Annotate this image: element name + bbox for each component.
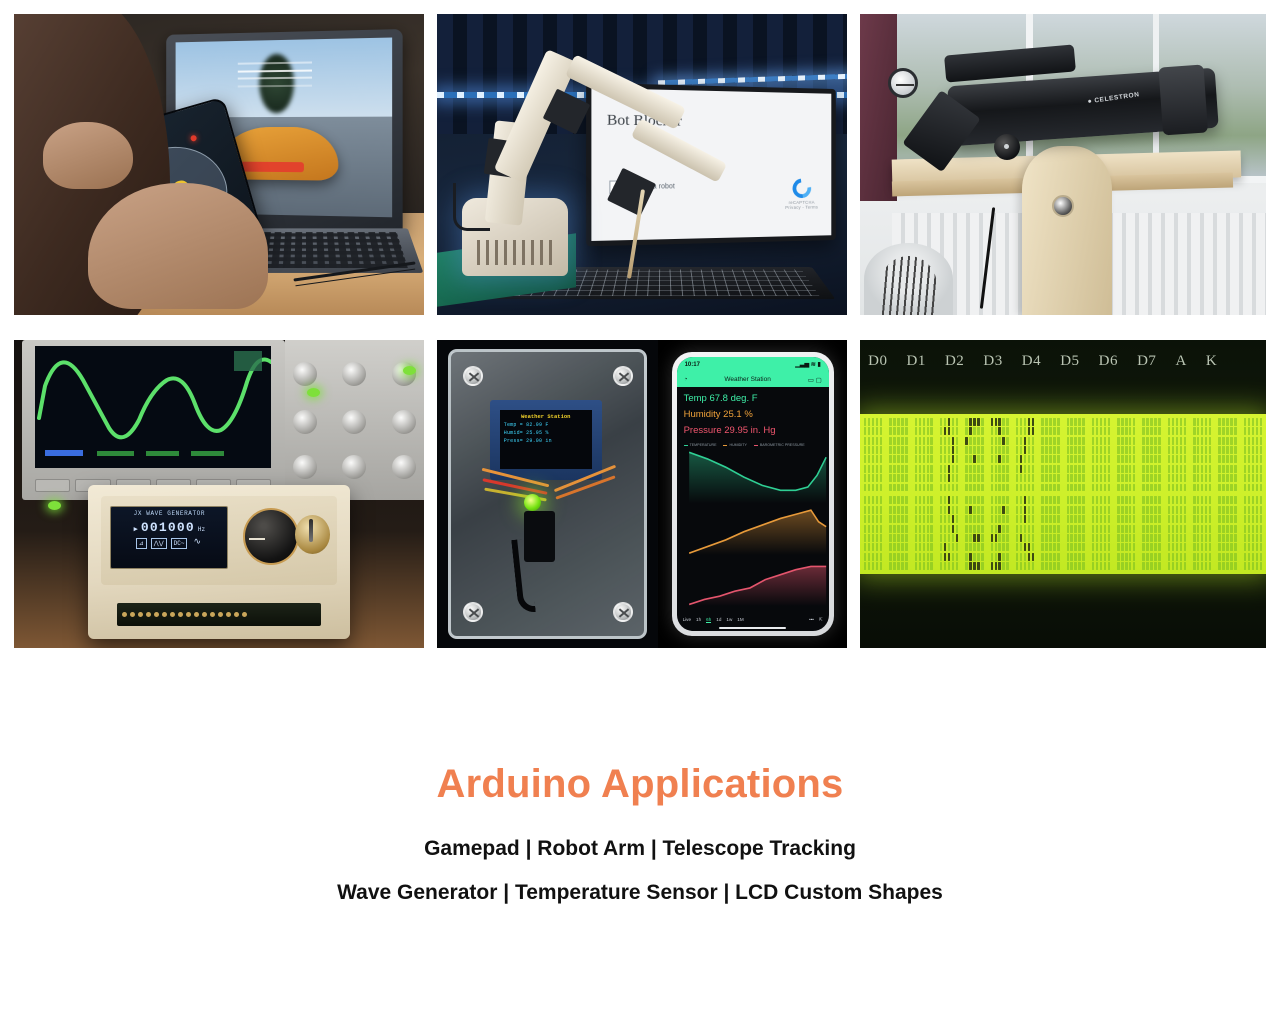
lcd-pixel bbox=[1053, 427, 1055, 435]
lcd-pixel bbox=[872, 543, 874, 551]
share-icon[interactable]: ⇱ bbox=[819, 617, 823, 623]
lcd-pixel bbox=[1016, 506, 1018, 514]
lcd-pixel bbox=[1002, 418, 1004, 426]
lcd-pixel bbox=[1006, 496, 1008, 504]
lcd-pixel bbox=[995, 506, 997, 514]
lcd-pixel bbox=[1100, 437, 1102, 445]
lcd-pixel bbox=[1193, 446, 1195, 454]
lcd-pixel bbox=[1218, 437, 1220, 445]
lcd-pixel bbox=[1049, 446, 1051, 454]
lcd-pixel bbox=[1205, 553, 1207, 561]
lcd-pixel bbox=[1082, 465, 1084, 473]
scope-knob[interactable] bbox=[342, 410, 366, 434]
lcd-pixel bbox=[1070, 525, 1072, 533]
lcd-pixel bbox=[965, 484, 967, 492]
lcd-pixel bbox=[880, 437, 882, 445]
lcd-pixel bbox=[1067, 437, 1069, 445]
lcd-pixel bbox=[1032, 506, 1034, 514]
lcd-pixel bbox=[1057, 506, 1059, 514]
lcd-pixel bbox=[905, 437, 907, 445]
lcd-pixel bbox=[1028, 496, 1030, 504]
lcd-pixel bbox=[944, 562, 946, 570]
lcd-pixel bbox=[981, 506, 983, 514]
lcd-pixel bbox=[1248, 553, 1250, 561]
lcd-character-cell bbox=[1117, 496, 1135, 570]
scope-knob-row-mid[interactable] bbox=[293, 410, 416, 434]
lcd-pixel bbox=[1096, 525, 1098, 533]
oscilloscope-control-panel[interactable] bbox=[285, 340, 424, 500]
lcd-pixel bbox=[973, 496, 975, 504]
lcd-pixel bbox=[995, 543, 997, 551]
lcd-pixel bbox=[956, 506, 958, 514]
lcd-pixel bbox=[901, 427, 903, 435]
lcd-pixel bbox=[1168, 496, 1170, 504]
lcd-pixel bbox=[1074, 543, 1076, 551]
lcd-pixel bbox=[1205, 496, 1207, 504]
wave-generator-device: JX WAVE GENERATOR ▶ 001000 Hz ⊿ ⋀⋁ DC~ ∿ bbox=[88, 485, 350, 639]
lcd-pixel bbox=[919, 553, 921, 561]
lcd-pixel bbox=[1104, 562, 1106, 570]
header-pin bbox=[162, 612, 167, 617]
lcd-pixel bbox=[1045, 496, 1047, 504]
photo-wave-generator: JX WAVE GENERATOR ▶ 001000 Hz ⊿ ⋀⋁ DC~ ∿ bbox=[14, 340, 424, 648]
legend-item-temperature: TEMPERATURE bbox=[684, 443, 717, 447]
lcd-pixel bbox=[872, 437, 874, 445]
lcd-pixel bbox=[1260, 534, 1262, 542]
lcd-pixel bbox=[1197, 525, 1199, 533]
lcd-pixel bbox=[1248, 525, 1250, 533]
lcd-pixel bbox=[897, 465, 899, 473]
lcd-pixel bbox=[977, 515, 979, 523]
lcd-pixel bbox=[1248, 506, 1250, 514]
lcd-pixel bbox=[889, 525, 891, 533]
lcd-pixel bbox=[940, 506, 942, 514]
lcd-pixel bbox=[1218, 427, 1220, 435]
lcd-pixel bbox=[1041, 562, 1043, 570]
lcd-pixel bbox=[1201, 446, 1203, 454]
pin-label-d3: D3 bbox=[983, 353, 1002, 370]
lcd-pixel bbox=[1117, 553, 1119, 561]
clock-icon[interactable]: ◔ bbox=[684, 376, 688, 383]
lcd-pixel bbox=[1096, 418, 1098, 426]
lcd-pixel bbox=[1125, 418, 1127, 426]
lcd-pixel bbox=[1150, 446, 1152, 454]
lcd-pixel bbox=[897, 562, 899, 570]
lcd-pixel bbox=[1234, 418, 1236, 426]
lcd-pixel bbox=[1193, 455, 1195, 463]
pin-label-d4: D4 bbox=[1022, 353, 1041, 370]
wire-orange bbox=[482, 467, 549, 487]
lcd-pixel bbox=[1024, 437, 1026, 445]
lcd-pixel bbox=[952, 543, 954, 551]
lcd-pixel bbox=[1193, 515, 1195, 523]
lcd-pixel bbox=[1104, 455, 1106, 463]
oled-pressure-line: Press= 29.00 in bbox=[504, 438, 588, 444]
lcd-pixel bbox=[1146, 418, 1148, 426]
lcd-pixel bbox=[1020, 418, 1022, 426]
lcd-pixel bbox=[1125, 427, 1127, 435]
lcd-pixel bbox=[1024, 525, 1026, 533]
lcd-pixel bbox=[952, 506, 954, 514]
lcd-pixel bbox=[1248, 562, 1250, 570]
lcd-pixel bbox=[1184, 525, 1186, 533]
lcd-pixel bbox=[944, 553, 946, 561]
lcd-pixel bbox=[1256, 427, 1258, 435]
lcd-pixel bbox=[893, 506, 895, 514]
lcd-pixel bbox=[998, 427, 1000, 435]
lcd-pixel bbox=[956, 455, 958, 463]
lcd-pixel bbox=[977, 484, 979, 492]
scope-knob[interactable] bbox=[342, 455, 366, 479]
lcd-pixel bbox=[1230, 534, 1232, 542]
lcd-pixel bbox=[995, 437, 997, 445]
lcd-pixel bbox=[956, 446, 958, 454]
lcd-pixel bbox=[944, 525, 946, 533]
scope-knob[interactable] bbox=[392, 410, 416, 434]
lcd-pixel bbox=[872, 427, 874, 435]
lcd-pixel bbox=[948, 455, 950, 463]
header-pin bbox=[226, 612, 231, 617]
lcd-pixel bbox=[1172, 553, 1174, 561]
lcd-pixel bbox=[1197, 446, 1199, 454]
lcd-pixel bbox=[1158, 446, 1160, 454]
lcd-pixel bbox=[1002, 534, 1004, 542]
lcd-pixel bbox=[1070, 418, 1072, 426]
lcd-character-cell bbox=[1168, 496, 1186, 570]
lcd-character-cell bbox=[1168, 418, 1186, 492]
telescope-brand-label: CELESTRON bbox=[1088, 92, 1141, 106]
lcd-pixel bbox=[1230, 562, 1232, 570]
lcd-pixel bbox=[1184, 515, 1186, 523]
enclosure-screw bbox=[463, 366, 483, 386]
lcd-pixel bbox=[1150, 418, 1152, 426]
lcd-pixel bbox=[1180, 496, 1182, 504]
lcd-character-cell bbox=[991, 418, 1009, 492]
lcd-pixel bbox=[915, 418, 917, 426]
lcd-pixel bbox=[1201, 474, 1203, 482]
lcd-pixel bbox=[1158, 543, 1160, 551]
lcd-pixel bbox=[1074, 465, 1076, 473]
lcd-pixel bbox=[893, 455, 895, 463]
lcd-pixel bbox=[905, 553, 907, 561]
pin-label-d0: D0 bbox=[868, 353, 887, 370]
lcd-pixel bbox=[981, 446, 983, 454]
time-range-tabs[interactable]: Live 1h 6h 1d 1w 1M ••• ⇱ bbox=[677, 615, 829, 626]
lcd-pixel bbox=[977, 506, 979, 514]
lcd-pixel bbox=[1082, 474, 1084, 482]
lcd-pixel bbox=[1002, 506, 1004, 514]
lcd-pixel bbox=[1041, 427, 1043, 435]
lcd-pixel bbox=[940, 455, 942, 463]
scope-status-box bbox=[234, 351, 262, 370]
lcd-pixel bbox=[897, 496, 899, 504]
lcd-pixel bbox=[1121, 515, 1123, 523]
lcd-pixel bbox=[930, 496, 932, 504]
lcd-pixel bbox=[1230, 543, 1232, 551]
lcd-pixel bbox=[1006, 446, 1008, 454]
lcd-pixel bbox=[1041, 418, 1043, 426]
lcd-pixel bbox=[1082, 446, 1084, 454]
lcd-pixel bbox=[1150, 525, 1152, 533]
lcd-pixel bbox=[1154, 474, 1156, 482]
lcd-pixel bbox=[872, 446, 874, 454]
lcd-pixel bbox=[1082, 437, 1084, 445]
lcd-pixel bbox=[1226, 534, 1228, 542]
enclosure-screw bbox=[613, 602, 633, 622]
recaptcha-logo: reCAPTCHA Privacy - Terms bbox=[785, 179, 818, 210]
lcd-pixel bbox=[940, 484, 942, 492]
lcd-pixel bbox=[1117, 418, 1119, 426]
lcd-pixel bbox=[1260, 474, 1262, 482]
lcd-pixel bbox=[1176, 525, 1178, 533]
lcd-pixel bbox=[919, 506, 921, 514]
lcd-pixel bbox=[1074, 496, 1076, 504]
lcd-pixel bbox=[876, 427, 878, 435]
scope-knob[interactable] bbox=[342, 362, 366, 386]
lcd-pixel bbox=[1154, 465, 1156, 473]
lcd-pixel bbox=[998, 465, 1000, 473]
lcd-pixel bbox=[1020, 496, 1022, 504]
lcd-pixel bbox=[923, 418, 925, 426]
lcd-pixel bbox=[893, 553, 895, 561]
ellipsis-icon[interactable]: ••• bbox=[809, 617, 814, 622]
lcd-pixel bbox=[969, 446, 971, 454]
lcd-pixel bbox=[1053, 534, 1055, 542]
lcd-pixel bbox=[1205, 506, 1207, 514]
lcd-pixel bbox=[1121, 484, 1123, 492]
lcd-pixel bbox=[1168, 474, 1170, 482]
lcd-pixel bbox=[1248, 446, 1250, 454]
lcd-pixel bbox=[940, 562, 942, 570]
lcd-pixel bbox=[1078, 515, 1080, 523]
lcd-pixel bbox=[1078, 484, 1080, 492]
lcd-pixel bbox=[1158, 437, 1160, 445]
lcd-pixel bbox=[1209, 534, 1211, 542]
lcd-pixel bbox=[1222, 506, 1224, 514]
lcd-pixel bbox=[1142, 543, 1144, 551]
lcd-pixel bbox=[1096, 562, 1098, 570]
tab-1h[interactable]: 1h bbox=[696, 617, 701, 622]
legend-label-temperature: TEMPERATURE bbox=[690, 443, 717, 447]
scope-softkey[interactable] bbox=[35, 479, 70, 492]
lcd-pixel bbox=[1067, 496, 1069, 504]
lcd-pixel bbox=[1104, 515, 1106, 523]
lcd-pixel bbox=[1024, 496, 1026, 504]
lcd-pixel bbox=[1082, 506, 1084, 514]
lcd-pixel bbox=[948, 562, 950, 570]
lcd-pixel bbox=[1100, 418, 1102, 426]
lcd-pixel bbox=[1180, 484, 1182, 492]
lcd-pixel bbox=[893, 543, 895, 551]
lcd-pixel bbox=[991, 496, 993, 504]
lcd-pixel bbox=[868, 534, 870, 542]
scope-knob[interactable] bbox=[293, 455, 317, 479]
lcd-pixel bbox=[1252, 474, 1254, 482]
lcd-pixel bbox=[897, 446, 899, 454]
lcd-pixel bbox=[1133, 525, 1135, 533]
lcd-pixel bbox=[1256, 484, 1258, 492]
lcd-pixel bbox=[1172, 496, 1174, 504]
lcd-pixel bbox=[1230, 515, 1232, 523]
lcd-pixel bbox=[969, 474, 971, 482]
lcd-pixel bbox=[1002, 553, 1004, 561]
lcd-pixel bbox=[1092, 484, 1094, 492]
lcd-pixel bbox=[1070, 496, 1072, 504]
lcd-pixel bbox=[1002, 465, 1004, 473]
scope-knob[interactable] bbox=[392, 455, 416, 479]
lcd-pixel bbox=[948, 474, 950, 482]
lcd-pixel bbox=[1234, 553, 1236, 561]
lcd-pixel bbox=[969, 437, 971, 445]
rotary-encoder-knob[interactable] bbox=[243, 508, 300, 565]
lcd-pixel bbox=[1020, 525, 1022, 533]
power-toggle-switch[interactable] bbox=[295, 515, 330, 554]
lcd-pixel bbox=[1045, 474, 1047, 482]
lcd-pixel bbox=[901, 562, 903, 570]
lcd-pixel bbox=[944, 446, 946, 454]
lcd-pixel bbox=[915, 484, 917, 492]
lcd-pixel bbox=[1067, 474, 1069, 482]
lcd-pixel bbox=[1260, 543, 1262, 551]
lcd-pixel bbox=[1032, 553, 1034, 561]
nav-right-icons[interactable]: ▭ ▢ bbox=[808, 376, 822, 384]
lcd-pixel bbox=[919, 427, 921, 435]
lcd-pixel bbox=[1074, 455, 1076, 463]
lcd-pixel bbox=[1158, 525, 1160, 533]
lcd-pixel bbox=[1197, 437, 1199, 445]
lcd-pixel bbox=[1142, 446, 1144, 454]
left-hand bbox=[43, 122, 133, 188]
lcd-pixel bbox=[969, 534, 971, 542]
lcd-pixel bbox=[1234, 543, 1236, 551]
lcd-pixel bbox=[1201, 534, 1203, 542]
lcd-pixel bbox=[1226, 484, 1228, 492]
lcd-pixel bbox=[1244, 474, 1246, 482]
lcd-pixel bbox=[973, 484, 975, 492]
lcd-pixel bbox=[1041, 525, 1043, 533]
lcd-pixel bbox=[1218, 446, 1220, 454]
lcd-pixel bbox=[1260, 553, 1262, 561]
lcd-pixel bbox=[1230, 553, 1232, 561]
lcd-pixel bbox=[1172, 427, 1174, 435]
scope-knob-row-bottom[interactable] bbox=[293, 455, 416, 479]
lcd-pixel bbox=[948, 553, 950, 561]
scope-knob-row-top[interactable] bbox=[293, 362, 416, 386]
lcd-pixel bbox=[1049, 427, 1051, 435]
recaptcha-sublabel: Privacy - Terms bbox=[785, 205, 818, 210]
lcd-pixel bbox=[915, 437, 917, 445]
lcd-pixel bbox=[1125, 543, 1127, 551]
lcd-pixel bbox=[864, 437, 866, 445]
lcd-pixel bbox=[1057, 543, 1059, 551]
lcd-pixel bbox=[1028, 562, 1030, 570]
lcd-pixel bbox=[876, 562, 878, 570]
lcd-pixel bbox=[1154, 455, 1156, 463]
lcd-pixel bbox=[1125, 553, 1127, 561]
lcd-pixel bbox=[1168, 534, 1170, 542]
lcd-pixel bbox=[1129, 418, 1131, 426]
lcd-pixel bbox=[1230, 474, 1232, 482]
lcd-pixel bbox=[991, 525, 993, 533]
lcd-waveform-icons: ⊿ ⋀⋁ DC~ ∿ bbox=[115, 538, 223, 549]
lcd-pixel bbox=[1197, 534, 1199, 542]
lcd-pixel bbox=[897, 534, 899, 542]
lcd-pixel bbox=[868, 465, 870, 473]
lcd-pixel bbox=[1082, 418, 1084, 426]
lcd-pixel bbox=[872, 496, 874, 504]
lcd-pixel bbox=[872, 534, 874, 542]
lcd-frequency-unit: Hz bbox=[198, 526, 205, 533]
tab-6h[interactable]: 6h bbox=[706, 617, 711, 623]
scope-knob[interactable] bbox=[293, 362, 317, 386]
lcd-pixel bbox=[923, 446, 925, 454]
lcd-pixel bbox=[1104, 543, 1106, 551]
tab-1w[interactable]: 1w bbox=[726, 617, 732, 622]
noise-wave-icon: ⋀⋁ bbox=[151, 538, 167, 549]
lcd-pixel bbox=[1108, 543, 1110, 551]
lcd-pixel bbox=[995, 446, 997, 454]
pin-header-strip bbox=[117, 603, 322, 626]
lcd-pixel bbox=[977, 455, 979, 463]
lcd-pixel bbox=[1248, 418, 1250, 426]
lcd-pixel bbox=[998, 553, 1000, 561]
lcd-pixel bbox=[1032, 465, 1034, 473]
lcd-pixel bbox=[1218, 484, 1220, 492]
lcd-pixel bbox=[901, 465, 903, 473]
lcd-pixel bbox=[1067, 427, 1069, 435]
lcd-pixel bbox=[1016, 465, 1018, 473]
lcd-pixel bbox=[944, 418, 946, 426]
lcd-pixel bbox=[1234, 484, 1236, 492]
tab-1d[interactable]: 1d bbox=[716, 617, 721, 622]
lcd-pixel bbox=[1070, 506, 1072, 514]
lcd-pixel bbox=[969, 418, 971, 426]
lcd-pixel bbox=[1006, 437, 1008, 445]
lcd-pixel bbox=[897, 427, 899, 435]
lcd-pixel bbox=[1028, 515, 1030, 523]
lcd-pixel bbox=[1070, 465, 1072, 473]
lcd-pixel bbox=[1168, 484, 1170, 492]
lcd-pixel bbox=[1108, 553, 1110, 561]
lcd-pixel bbox=[1092, 474, 1094, 482]
lcd-pixel bbox=[940, 553, 942, 561]
lcd-pixel bbox=[1168, 506, 1170, 514]
lcd-pixel bbox=[1226, 418, 1228, 426]
lcd-pixel bbox=[1226, 553, 1228, 561]
tab-1m[interactable]: 1M bbox=[737, 617, 743, 622]
lcd-pixel bbox=[1256, 543, 1258, 551]
lcd-pixel bbox=[919, 515, 921, 523]
lcd-pixel bbox=[1045, 534, 1047, 542]
lcd-pixel bbox=[1002, 484, 1004, 492]
lcd-pixel bbox=[1142, 525, 1144, 533]
scope-knob[interactable] bbox=[293, 410, 317, 434]
lcd-pixel bbox=[1020, 515, 1022, 523]
lcd-pixel bbox=[956, 534, 958, 542]
lcd-pixel bbox=[1082, 496, 1084, 504]
lcd-pixel bbox=[868, 496, 870, 504]
lcd-pixel bbox=[1197, 474, 1199, 482]
lcd-pixel bbox=[1133, 543, 1135, 551]
lcd-pixel bbox=[995, 534, 997, 542]
lcd-pixel bbox=[1230, 484, 1232, 492]
lcd-pixel bbox=[1234, 474, 1236, 482]
lcd-pixel bbox=[1252, 543, 1254, 551]
legend-item-humidity: HUMIDITY bbox=[723, 443, 746, 447]
lcd-character-cell bbox=[1092, 418, 1110, 492]
tab-live[interactable]: Live bbox=[683, 617, 691, 622]
lcd-pixel bbox=[919, 562, 921, 570]
